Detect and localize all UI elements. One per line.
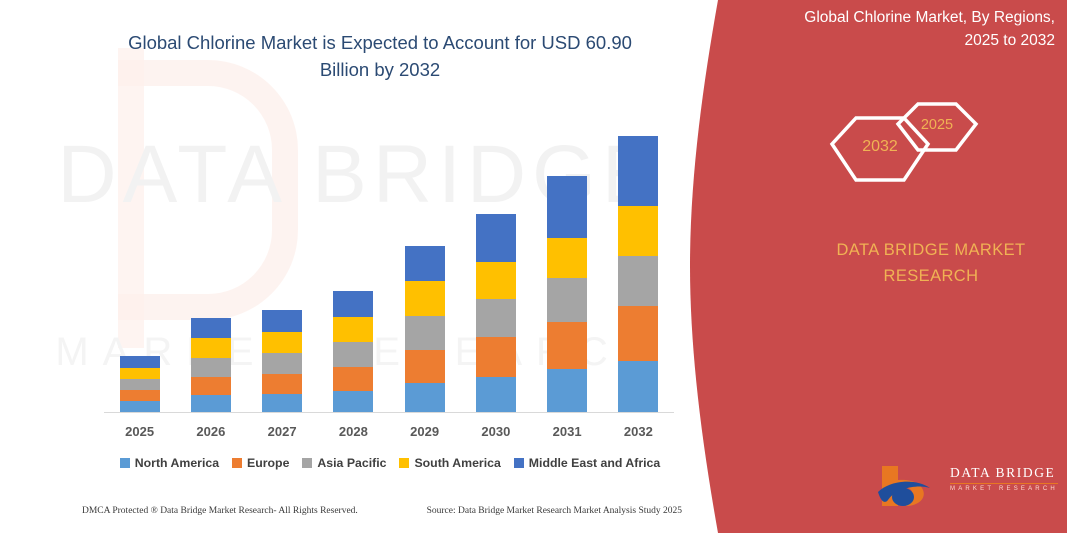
bar-segment[interactable] <box>476 262 516 299</box>
x-axis-label-2025: 2025 <box>104 424 176 439</box>
x-axis-label-2030: 2030 <box>460 424 532 439</box>
legend-swatch <box>120 458 130 468</box>
legend-swatch <box>302 458 312 468</box>
x-axis-label-2031: 2031 <box>531 424 603 439</box>
right-panel-title-line2: 2025 to 2032 <box>735 29 1055 52</box>
bar-segment[interactable] <box>405 316 445 350</box>
bar-segment[interactable] <box>618 206 658 256</box>
right-panel-title-line1: Global Chlorine Market, By Regions, <box>735 6 1055 29</box>
legend-swatch <box>514 458 524 468</box>
bar-2028[interactable] <box>333 291 373 413</box>
brand-line1: DATA BRIDGE MARKET <box>800 238 1062 264</box>
bar-segment[interactable] <box>120 356 160 368</box>
bar-segment[interactable] <box>191 377 231 395</box>
bar-segment[interactable] <box>476 377 516 413</box>
chart-x-axis-labels: 20252026202720282029203020312032 <box>104 424 674 446</box>
bar-segment[interactable] <box>191 395 231 413</box>
bar-2027[interactable] <box>262 310 302 413</box>
bar-segment[interactable] <box>618 136 658 206</box>
logo-primary-text: DATA BRIDGE <box>950 466 1065 481</box>
bar-segment[interactable] <box>262 310 302 332</box>
bar-segment[interactable] <box>547 322 587 369</box>
bar-segment[interactable] <box>405 350 445 383</box>
logo-divider <box>950 483 1058 485</box>
hexagon-group: 2032 2025 <box>812 92 1012 222</box>
legend-item-europe[interactable]: Europe <box>232 456 289 470</box>
chart-title-line1: Global Chlorine Market is Expected to Ac… <box>120 30 640 57</box>
logo-secondary-text: MARKET RESEARCH <box>950 486 1065 493</box>
bar-2032[interactable] <box>618 136 658 413</box>
x-axis-label-2032: 2032 <box>602 424 674 439</box>
bar-2025[interactable] <box>120 356 160 413</box>
bar-segment[interactable] <box>262 374 302 394</box>
bar-segment[interactable] <box>262 332 302 353</box>
bar-segment[interactable] <box>191 358 231 377</box>
bar-segment[interactable] <box>405 383 445 413</box>
bar-segment[interactable] <box>618 256 658 306</box>
chart-plot-area <box>104 120 674 413</box>
x-axis-label-2026: 2026 <box>175 424 247 439</box>
bar-segment[interactable] <box>547 176 587 238</box>
bar-segment[interactable] <box>547 278 587 322</box>
chart-title: Global Chlorine Market is Expected to Ac… <box>120 30 640 84</box>
chart-legend: North AmericaEuropeAsia PacificSouth Ame… <box>104 456 676 470</box>
legend-label: Middle East and Africa <box>529 456 660 470</box>
bar-segment[interactable] <box>262 394 302 413</box>
bar-segment[interactable] <box>120 390 160 401</box>
bar-2030[interactable] <box>476 214 516 413</box>
legend-label: North America <box>135 456 219 470</box>
bar-segment[interactable] <box>405 281 445 316</box>
logo-blue-dot <box>892 488 914 506</box>
bar-segment[interactable] <box>191 338 231 358</box>
dbmr-logo-text: DATA BRIDGE MARKET RESEARCH <box>950 466 1065 493</box>
legend-label: South America <box>414 456 500 470</box>
legend-swatch <box>399 458 409 468</box>
legend-item-middle-east-and-africa[interactable]: Middle East and Africa <box>514 456 660 470</box>
brand-name: DATA BRIDGE MARKET RESEARCH <box>800 238 1062 289</box>
hexagon-large-label: 2032 <box>840 138 920 156</box>
bar-segment[interactable] <box>333 391 373 413</box>
bar-segment[interactable] <box>120 368 160 379</box>
bar-segment[interactable] <box>333 342 373 367</box>
legend-item-north-america[interactable]: North America <box>120 456 219 470</box>
bar-segment[interactable] <box>191 318 231 338</box>
legend-label: Europe <box>247 456 289 470</box>
x-axis-label-2029: 2029 <box>389 424 461 439</box>
bar-segment[interactable] <box>405 246 445 281</box>
bar-segment[interactable] <box>333 367 373 391</box>
bar-2026[interactable] <box>191 318 231 413</box>
bar-2029[interactable] <box>405 246 445 413</box>
bar-2031[interactable] <box>547 176 587 413</box>
bar-segment[interactable] <box>333 317 373 342</box>
footer-source: Source: Data Bridge Market Research Mark… <box>427 506 682 516</box>
hexagon-small-label: 2025 <box>905 117 969 133</box>
bar-segment[interactable] <box>120 379 160 390</box>
legend-item-asia-pacific[interactable]: Asia Pacific <box>302 456 386 470</box>
bar-segment[interactable] <box>476 214 516 262</box>
bar-segment[interactable] <box>547 369 587 413</box>
bar-segment[interactable] <box>618 361 658 413</box>
chart-title-line2: Billion by 2032 <box>120 57 640 84</box>
legend-swatch <box>232 458 242 468</box>
bar-segment[interactable] <box>476 299 516 337</box>
x-axis-label-2028: 2028 <box>317 424 389 439</box>
bar-segment[interactable] <box>547 238 587 278</box>
bar-segment[interactable] <box>333 291 373 317</box>
x-axis-label-2027: 2027 <box>246 424 318 439</box>
legend-item-south-america[interactable]: South America <box>399 456 500 470</box>
footer: DMCA Protected ® Data Bridge Market Rese… <box>82 506 682 516</box>
infographic-canvas: DATA BRIDGE MARKET RESEARCH Global Chlor… <box>0 0 1067 533</box>
bar-segment[interactable] <box>618 306 658 361</box>
right-panel-title: Global Chlorine Market, By Regions, 2025… <box>735 6 1055 53</box>
legend-label: Asia Pacific <box>317 456 386 470</box>
chart-baseline <box>104 412 674 413</box>
brand-line2: RESEARCH <box>800 264 1062 290</box>
bar-segment[interactable] <box>476 337 516 377</box>
footer-copyright: DMCA Protected ® Data Bridge Market Rese… <box>82 506 358 516</box>
bar-segment[interactable] <box>262 353 302 374</box>
